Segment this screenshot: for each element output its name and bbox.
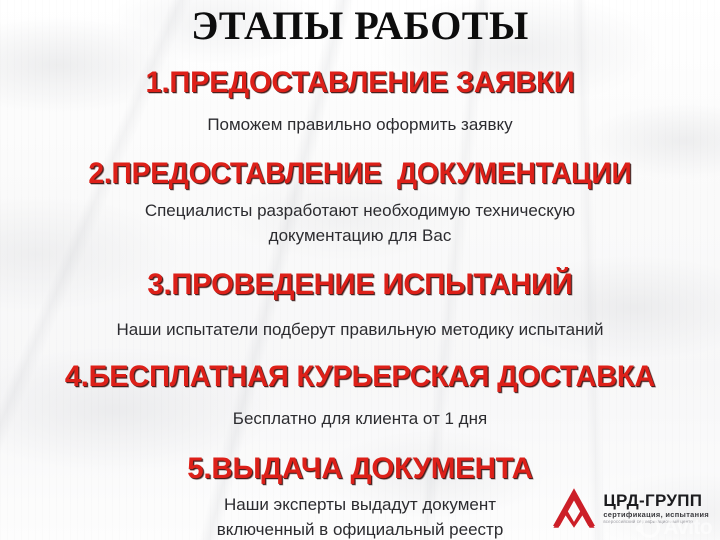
step-item-1: 1.ПРЕДОСТАВЛЕНИЕ ЗАЯВКИ Поможем правильн…	[0, 68, 720, 137]
step-body-2: Специалисты разработают необходимую техн…	[0, 198, 720, 248]
step-body-3: Наши испытатели подберут правильную мето…	[0, 317, 720, 342]
logo-tagline: сертификация, испытания	[603, 511, 709, 518]
step-item-3: 3.ПРОВЕДЕНИЕ ИСПЫТАНИЙ Наши испытатели п…	[0, 270, 720, 342]
step-heading-2: 2.ПРЕДОСТАВЛЕНИЕ ДОКУМЕНТАЦИИ	[16, 159, 704, 189]
logo-text-block: ЦРД-ГРУПП сертификация, испытания всерос…	[603, 492, 709, 525]
step-item-2: 2.ПРЕДОСТАВЛЕНИЕ ДОКУМЕНТАЦИИ Специалист…	[0, 159, 720, 249]
step-item-4: 4.БЕСПЛАТНАЯ КУРЬЕРСКАЯ ДОСТАВКА Бесплат…	[0, 362, 720, 431]
triangle-chevron-logo-icon	[553, 488, 595, 528]
step-heading-3: 3.ПРОВЕДЕНИЕ ИСПЫТАНИЙ	[4, 270, 717, 300]
poster: ЭТАПЫ РАБОТЫ 1.ПРЕДОСТАВЛЕНИЕ ЗАЯВКИ Пом…	[0, 0, 720, 540]
page-title: ЭТАПЫ РАБОТЫ	[0, 0, 720, 46]
logo-company-name: ЦРД-ГРУПП	[603, 492, 709, 509]
poster-content: ЭТАПЫ РАБОТЫ 1.ПРЕДОСТАВЛЕНИЕ ЗАЯВКИ Пом…	[0, 0, 720, 540]
logo-subline: всероссийский сертификационный центр	[603, 520, 709, 524]
company-logo: ЦРД-ГРУПП сертификация, испытания всерос…	[553, 488, 709, 528]
step-body-4: Бесплатно для клиента от 1 дня	[0, 406, 720, 431]
step-heading-1: 1.ПРЕДОСТАВЛЕНИЕ ЗАЯВКИ	[5, 68, 714, 98]
step-heading-5: 5.ВЫДАЧА ДОКУМЕНТА	[0, 454, 720, 484]
step-heading-4: 4.БЕСПЛАТНАЯ КУРЬЕРСКАЯ ДОСТАВКА	[13, 362, 708, 392]
step-body-1: Поможем правильно оформить заявку	[0, 112, 720, 137]
